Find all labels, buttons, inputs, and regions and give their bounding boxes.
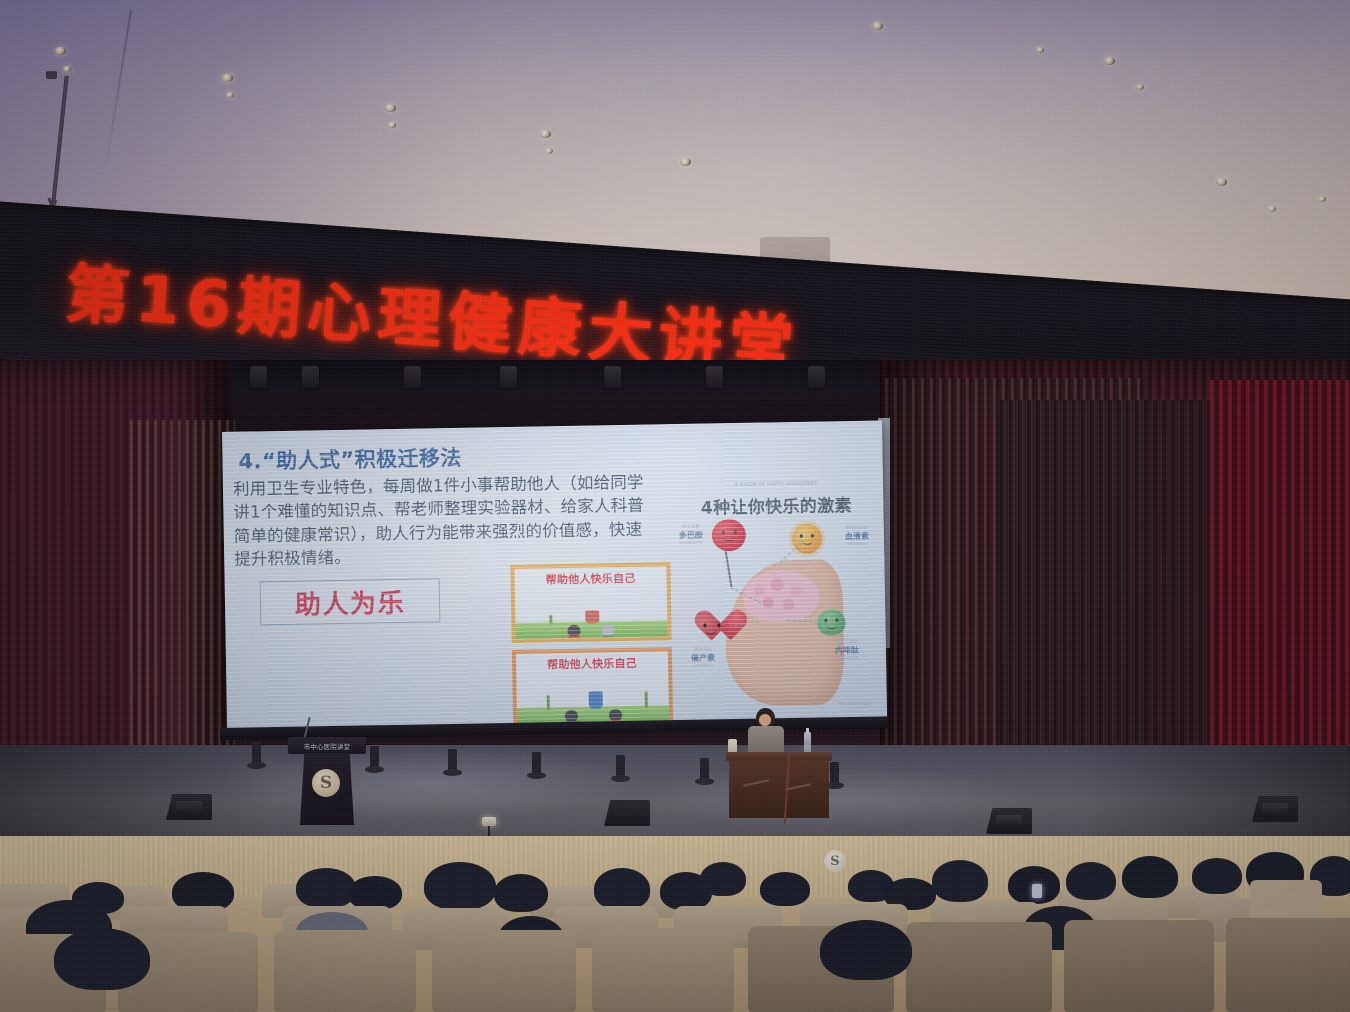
presenter-figure [746,708,786,754]
stage-spotlight [500,366,517,388]
cartoon-sprout [645,692,648,708]
screen-support-stand [532,752,541,774]
frog-icon [817,609,845,635]
stage-spotlight [808,366,825,388]
audience-head [296,868,356,908]
seat [432,930,576,1012]
ceiling-downlight [872,22,883,30]
stage-curtain-right-red [1210,380,1350,790]
ceiling-downlight [222,74,233,82]
ceiling-downlight [388,122,396,128]
floor-work-light [482,817,496,826]
ceiling-downlight [226,92,234,98]
screen-support-stand [370,746,379,768]
ceiling-downlight [1104,57,1115,65]
slide-title: 4.“助人式”积极迁移法 [238,442,462,476]
illustration-card: 帮助他人快乐自己 [512,647,673,728]
screen-support-stand [700,758,709,780]
audience-head [348,876,402,910]
hormone-label-en: Endorphin [816,656,878,662]
audience-head [424,862,496,910]
hormone-label-en: Serotonin [826,541,887,547]
ceiling-downlight [55,47,66,55]
ceiling-downlight [63,66,71,72]
stage-floor-monitor [1252,796,1298,822]
audience-head [494,874,548,912]
audience-head [700,862,746,896]
slide-body-text: 利用卫生专业特色，每周做1件小事帮助他人（如给同学讲1个难懂的知识点、帮老师整理… [233,470,655,571]
stage-curtain-right-dark [1000,400,1230,790]
seat [1226,918,1350,1012]
ceiling-downlight [545,148,553,154]
illustration-card-caption: 帮助他人快乐自己 [514,569,666,588]
seat [1064,920,1214,1012]
audience-head [1066,862,1116,900]
stage-spotlight [604,366,621,388]
ceiling-downlight [1268,206,1276,212]
audience-head [1192,858,1242,894]
ceiling-downlight [680,158,691,166]
aisle-sign-badge: S [824,850,846,872]
illustration-card-caption: 帮助他人快乐自己 [516,654,668,673]
illustration-card: 帮助他人快乐自己 [510,562,671,643]
hormone-label-endorphin: 天然止痛剂 内啡肽 Endorphin [816,639,878,662]
screen-support-stand [616,755,625,777]
ceiling-downlight [1136,84,1144,90]
seat [906,922,1052,1012]
heart-icon [693,611,730,644]
audience-head [932,860,988,902]
ceiling-downlight [385,104,396,112]
slide-highlight-box: 助人为乐 [260,578,441,625]
hormone-label-dopamine: 快乐激素 多巴胺 Dopamine [660,523,722,546]
hormone-label-en: Oxytocin [672,663,734,669]
cartoon-sprout [547,695,550,709]
audience-head [594,868,650,910]
hormone-diagram: 4 KINDS OF HAPPY HORMONES 4种让你快乐的激素 快乐激素… [675,481,879,714]
podium: 市中心医院讲堂 S [288,725,366,825]
hormone-diagram-title: 4种让你快乐的激素 [681,491,871,519]
stage-floor-monitor [604,800,650,826]
illustration-card-list: 帮助他人快乐自己 帮助他人快乐自己 [510,562,675,735]
projection-screen: 4.“助人式”积极迁移法 利用卫生专业特色，每周做1件小事帮助他人（如给同学讲1… [222,420,887,736]
stage-spotlight [302,366,319,388]
ceiling-downlight [1216,178,1227,186]
stage-spotlight [250,366,267,388]
hormone-label-oxytocin: 拥抱激素 催产素 Oxytocin [672,646,734,669]
hormone-diagram-subtitle: 4 KINDS OF HAPPY HORMONES [687,480,865,489]
sun-icon [792,524,823,555]
screen-support-stand [448,749,457,771]
presenter-desk [726,752,832,822]
stage-curtain-left-highlight [130,420,235,780]
stage-spotlight [404,366,421,388]
audience-phone-screen [1032,884,1042,898]
cartoon-sprout [549,615,552,624]
audience-head [54,928,150,990]
stage-spotlight [706,366,723,388]
audience-head [820,920,912,980]
brain-illustration [743,570,820,623]
aisle-sign-letter: S [830,854,839,869]
cartoon-bucket-blue [589,691,603,708]
podium-emblem-letter: S [320,775,332,792]
ceiling-downlight [1318,196,1326,202]
screen-support-stand [252,742,261,764]
stage-floor-monitor [166,794,212,820]
auditorium-photo: 第16期心理健康大讲堂 《接纳自我，向阳生长》 4.“助人式”积极迁移法 利用卫… [0,0,1350,1012]
audience-head [1122,856,1178,898]
slide-highlight-text: 助人为乐 [295,582,406,621]
ceiling-downlight [1036,47,1044,53]
stage-floor-monitor [986,808,1032,834]
audience-head [760,872,810,906]
stage-floor-reflection [0,745,1350,840]
seat [274,930,416,1012]
hormone-label-serotonin: 情绪稳定剂 血清素 Serotonin [826,524,887,547]
water-bottle [804,732,811,754]
seat [592,928,734,1012]
podium-label: 市中心医院讲堂 [294,741,360,751]
paper-cup [728,739,737,753]
cartoon-bucket-red [585,610,599,623]
podium-emblem-icon: S [312,769,340,797]
slide-watermark: 快乐激素科普图 [838,700,873,708]
ceiling-downlight [540,130,551,138]
